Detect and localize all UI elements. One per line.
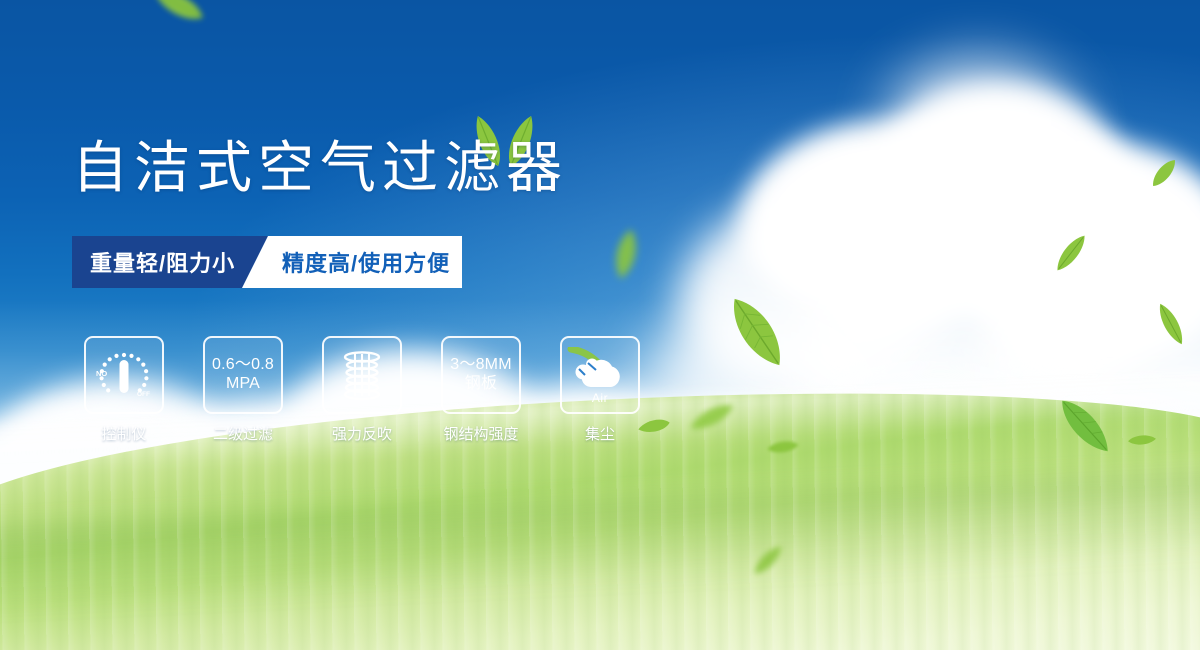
feature-value-line1: 0.6～0.8 — [212, 356, 274, 375]
feature-value-line2: MPA — [226, 375, 260, 394]
feature-item[interactable]: NO OFF 控制仪 — [78, 336, 170, 444]
feature-label: 二级过滤 — [213, 423, 273, 444]
feature-label: 钢结构强度 — [443, 423, 518, 444]
feature-item[interactable]: 0.6～0.8 MPA 二级过滤 — [197, 336, 289, 444]
feature-item[interactable]: Air 集尘 — [554, 336, 646, 444]
feature-label: 集尘 — [585, 423, 615, 444]
tagline-badge: 重量轻/阻力小 精度高/使用方便 — [72, 236, 462, 288]
badge-left-segment: 重量轻/阻力小 — [72, 236, 268, 288]
filter-coil-icon — [322, 336, 402, 414]
pressure-text-icon: 0.6～0.8 MPA — [203, 336, 283, 414]
svg-text:OFF: OFF — [137, 391, 150, 398]
title-block: 自洁式空气过滤器 — [72, 140, 568, 196]
badge-right-text: 精度高/使用方便 — [282, 246, 450, 278]
control-dial-icon: NO OFF — [84, 336, 164, 414]
leaf-icon — [1126, 432, 1157, 449]
feature-item[interactable]: 强力反吹 — [316, 336, 408, 444]
feature-value-line2: 钢板 — [465, 375, 497, 394]
feature-item[interactable]: 3～8MM 钢板 钢结构强度 — [435, 336, 527, 444]
page-title: 自洁式空气过滤器 — [72, 140, 568, 196]
feature-label: 强力反吹 — [332, 423, 392, 444]
banner-stage: 自洁式空气过滤器 重量轻/阻力小 精度高/使用方便 — [0, 0, 1200, 650]
badge-right-segment: 精度高/使用方便 — [242, 236, 462, 288]
feature-list: NO OFF 控制仪 0.6～0.8 MPA 二级过滤 — [78, 336, 646, 444]
feature-value-line1: 3～8MM — [450, 356, 511, 375]
badge-left-text: 重量轻/阻力小 — [90, 246, 235, 278]
feature-label: 控制仪 — [101, 423, 146, 444]
air-cloud-icon: Air — [560, 336, 640, 414]
air-caption: Air — [562, 391, 638, 405]
steel-text-icon: 3～8MM 钢板 — [441, 336, 521, 414]
svg-text:NO: NO — [96, 369, 107, 378]
